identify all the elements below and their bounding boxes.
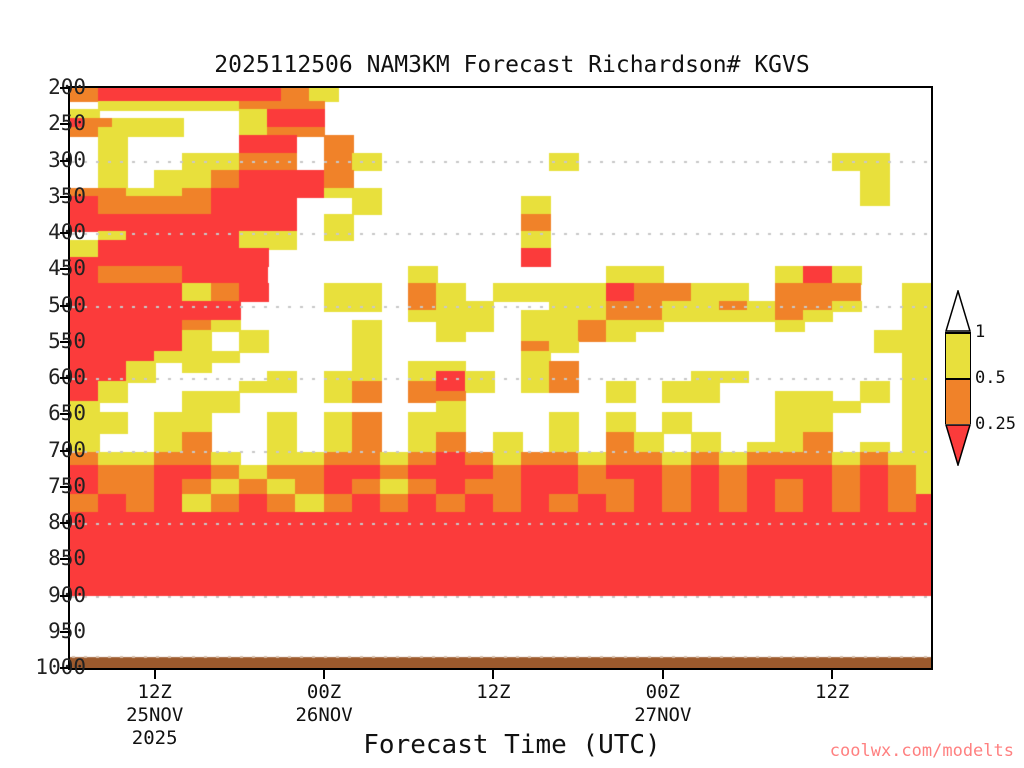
x-tick-date: 26NOV xyxy=(234,704,414,727)
colorbar-divider xyxy=(945,332,971,334)
x-tick-label: 12Z xyxy=(742,681,922,704)
x-tick-time: 12Z xyxy=(403,681,583,704)
x-tick-time: 00Z xyxy=(234,681,414,704)
colorbar-label: 0.25 xyxy=(975,416,1016,433)
footer-credit: coolwx.com/modelts xyxy=(0,741,1014,761)
x-tick-mark xyxy=(492,670,494,679)
y-tick-label: 450 xyxy=(0,258,86,279)
y-tick-mark xyxy=(60,377,70,379)
y-tick-label: 750 xyxy=(0,476,86,497)
colorbar-segment-0.25-to-0.5 xyxy=(945,378,971,424)
colorbar-legend: 10.50.25 xyxy=(941,290,1024,470)
y-tick-label: 600 xyxy=(0,367,86,388)
y-tick-label: 900 xyxy=(0,585,86,606)
y-tick-mark xyxy=(60,160,70,162)
x-tick-time: 12Z xyxy=(742,681,922,704)
y-tick-mark xyxy=(60,667,70,669)
x-tick-mark xyxy=(154,670,156,679)
y-tick-label: 350 xyxy=(0,186,86,207)
y-tick-mark xyxy=(60,232,70,234)
y-tick-label: 200 xyxy=(0,77,86,98)
x-tick-time: 12Z xyxy=(65,681,245,704)
y-tick-mark xyxy=(60,413,70,415)
y-tick-mark xyxy=(60,450,70,452)
colorbar-label: 0.5 xyxy=(975,370,1006,387)
y-tick-mark xyxy=(60,558,70,560)
x-tick-date: 27NOV xyxy=(573,704,753,727)
colorbar-divider xyxy=(945,378,971,380)
y-tick-mark xyxy=(60,341,70,343)
x-tick-mark xyxy=(831,670,833,679)
y-tick-mark xyxy=(60,631,70,633)
y-tick-mark xyxy=(60,123,70,125)
y-tick-label: 700 xyxy=(0,440,86,461)
y-tick-label: 800 xyxy=(0,512,86,533)
y-tick-label: 250 xyxy=(0,113,86,134)
x-tick-time: 00Z xyxy=(573,681,753,704)
y-tick-mark xyxy=(60,196,70,198)
y-tick-label: 1000 xyxy=(0,657,86,678)
y-tick-label: 550 xyxy=(0,331,86,352)
page-title: 2025112506 NAM3KM Forecast Richardson# K… xyxy=(0,52,1024,78)
y-tick-label: 850 xyxy=(0,548,86,569)
chart-page: 2025112506 NAM3KM Forecast Richardson# K… xyxy=(0,0,1024,768)
x-tick-date: 25NOV xyxy=(65,704,245,727)
y-tick-label: 950 xyxy=(0,621,86,642)
y-tick-label: 300 xyxy=(0,150,86,171)
colorbar-segment-0.5-to-1 xyxy=(945,332,971,378)
colorbar-label: 1 xyxy=(975,324,985,341)
y-tick-mark xyxy=(60,522,70,524)
x-tick-mark xyxy=(662,670,664,679)
plot-area xyxy=(68,86,933,670)
y-tick-label: 650 xyxy=(0,403,86,424)
y-tick-mark xyxy=(60,486,70,488)
colorbar-segment-below-0.25 xyxy=(945,424,971,466)
x-tick-label: 12Z xyxy=(403,681,583,704)
y-tick-label: 500 xyxy=(0,295,86,316)
y-tick-label: 400 xyxy=(0,222,86,243)
y-tick-mark xyxy=(60,268,70,270)
x-tick-mark xyxy=(323,670,325,679)
y-tick-mark xyxy=(60,595,70,597)
x-tick-label: 00Z26NOV xyxy=(234,681,414,727)
y-tick-mark xyxy=(60,87,70,89)
colorbar-segment-above-1 xyxy=(945,290,971,332)
richardson-heatmap xyxy=(70,88,931,668)
y-tick-mark xyxy=(60,305,70,307)
x-tick-label: 00Z27NOV xyxy=(573,681,753,727)
